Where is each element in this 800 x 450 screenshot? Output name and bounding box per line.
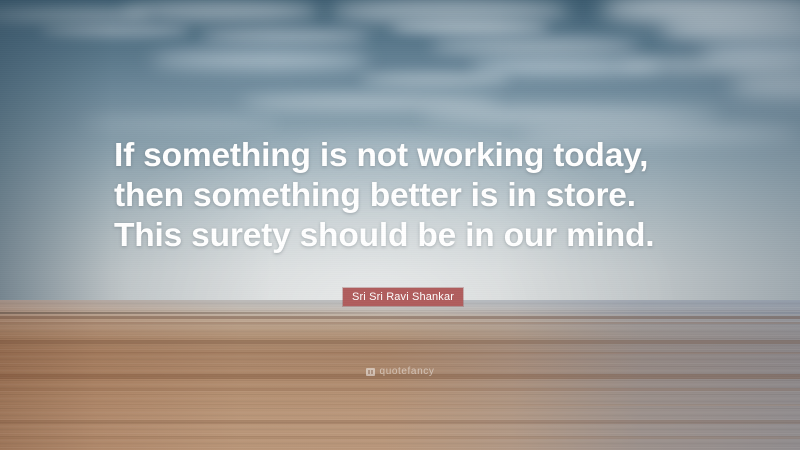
quote-line-2: then something better is in store. [114, 176, 714, 216]
horizon-line [0, 312, 800, 314]
watermark-brand: quotefancy [380, 366, 435, 377]
quote-poster: If something is not working today, then … [0, 0, 800, 450]
quote-line-3: This surety should be in our mind. [114, 216, 714, 256]
quote-text-block: If something is not working today, then … [114, 136, 714, 256]
quote-mark-icon [366, 368, 375, 376]
watermark[interactable]: quotefancy [0, 366, 800, 377]
author-name: Sri Sri Ravi Shankar [352, 291, 454, 303]
quote-line-1: If something is not working today, [114, 136, 714, 176]
author-badge[interactable]: Sri Sri Ravi Shankar [343, 288, 463, 306]
